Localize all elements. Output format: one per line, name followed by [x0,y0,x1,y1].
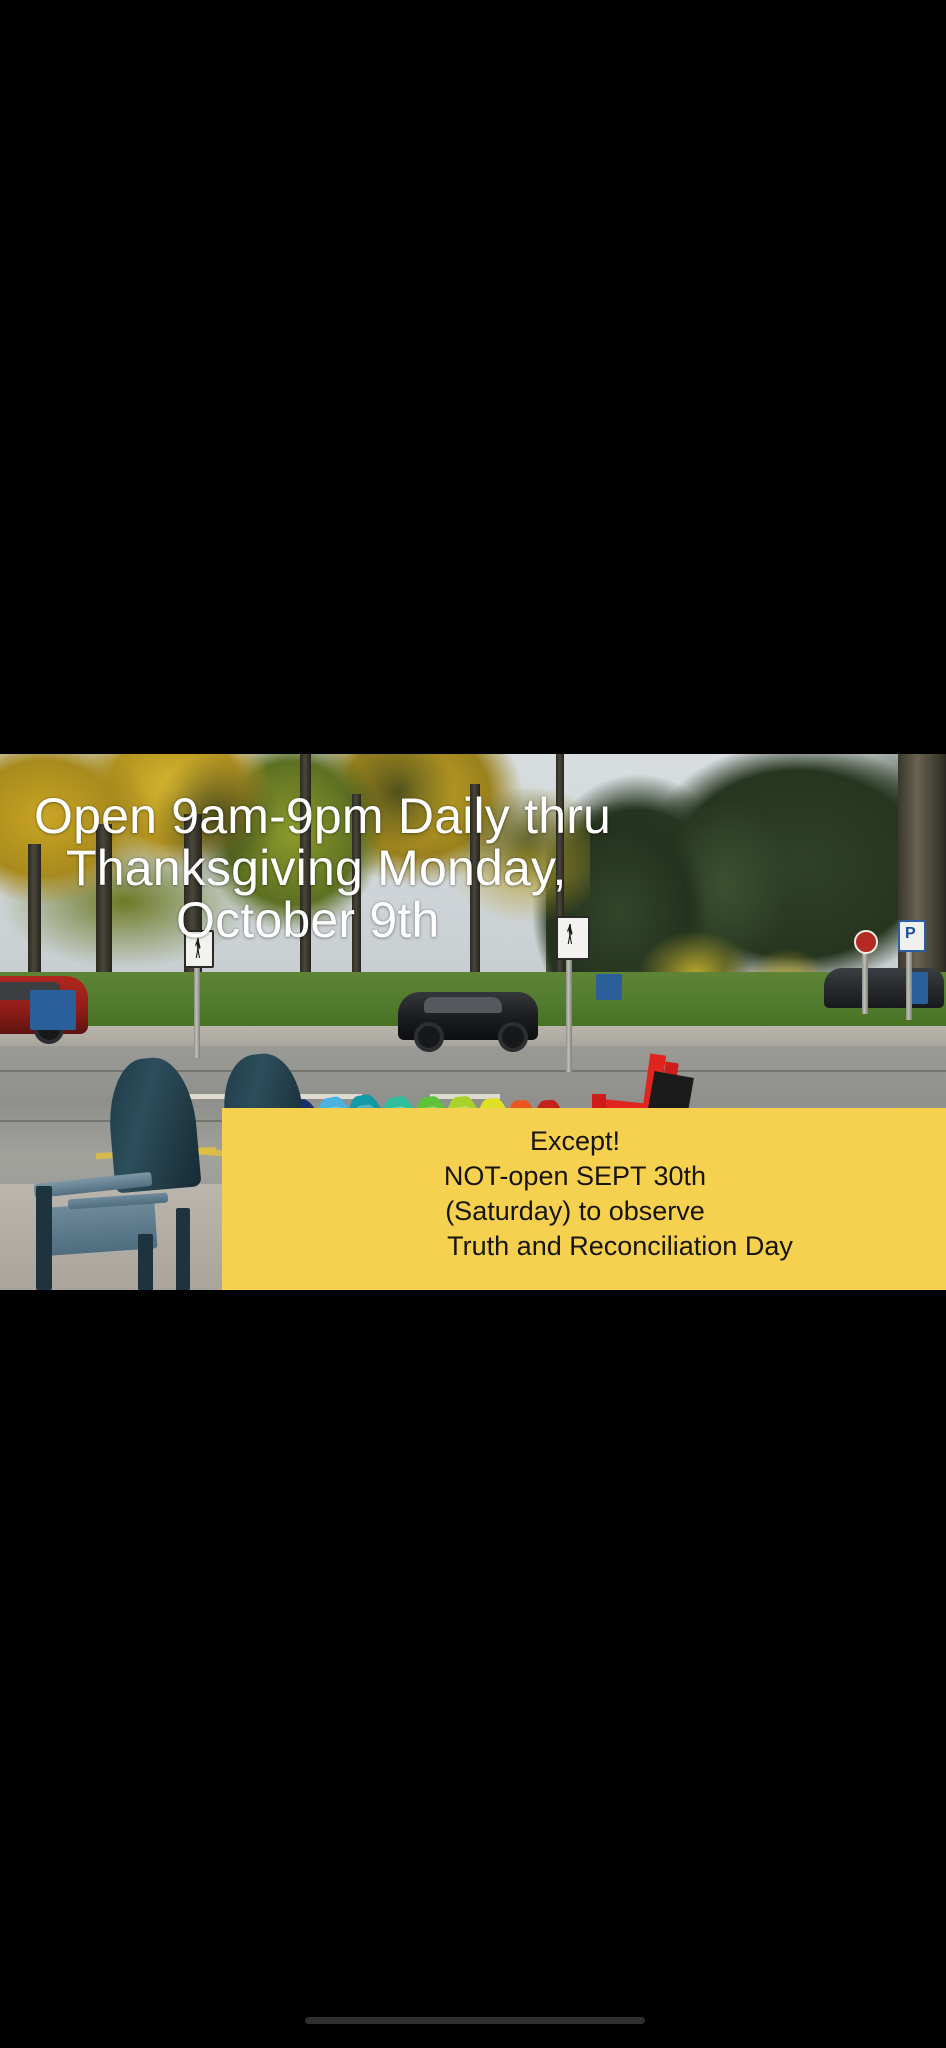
chair-leg [36,1186,52,1290]
sign-post [906,950,912,1020]
notice-line-1: Except! [222,1124,946,1159]
sign-post [862,950,868,1014]
notice-line-3: (Saturday) to observe [222,1194,946,1229]
notice-line-2: NOT-open SEPT 30th [222,1159,946,1194]
car-wheel [498,1022,528,1052]
sign-post [194,962,200,1058]
chair-leg [138,1234,153,1290]
notice-line-4: Truth and Reconciliation Day [222,1229,946,1264]
headline-line-1: Open 9am-9pm Daily thru [0,790,946,842]
car-wheel [414,1022,444,1052]
black-sedan [398,992,538,1040]
sign-post [566,952,572,1072]
chair-backrest [104,1055,201,1194]
notice-banner: Except! NOT-open SEPT 30th (Saturday) to… [222,1108,946,1290]
photo-headline-overlay: Open 9am-9pm Daily thru Thanksgiving Mon… [0,790,946,946]
blue-recycling-bin [30,990,76,1030]
headline-line-3: October 9th [0,894,946,946]
blue-recycling-bin [596,974,622,1000]
car-window [424,997,502,1013]
notice-banner-text: Except! NOT-open SEPT 30th (Saturday) to… [222,1124,946,1264]
phone-screen: P [0,0,946,2048]
chair-leg [176,1208,190,1290]
photo-viewer[interactable]: P [0,754,946,1290]
foreground-chair-left [28,1058,218,1288]
headline-line-2: Thanksgiving Monday, [0,842,946,894]
street-scene-photo: P [0,754,946,1290]
home-indicator[interactable] [305,2017,645,2024]
